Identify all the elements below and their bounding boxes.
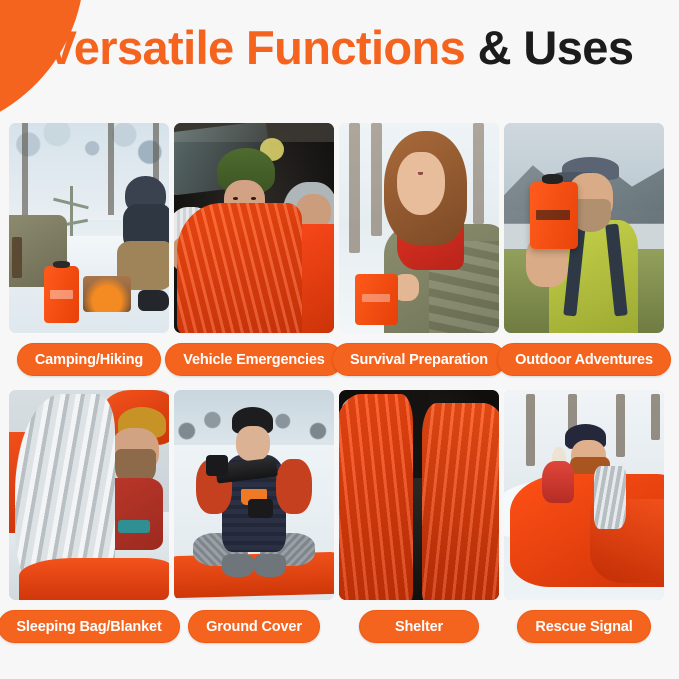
- use-case-cell-rescue-signal[interactable]: Rescue Signal: [504, 390, 664, 643]
- use-case-row: Camping/Hiking Vehicle Emergen: [9, 123, 670, 376]
- use-case-label-camping-hiking[interactable]: Camping/Hiking: [17, 343, 161, 376]
- page-title-accent: Versatile Functions: [46, 21, 466, 74]
- header: Versatile Functions & Uses: [0, 22, 679, 75]
- car-interior-emergency-blanket-photo: [174, 123, 334, 333]
- use-case-cell-shelter[interactable]: Shelter: [339, 390, 499, 643]
- use-case-label-sleeping-bag-blanket[interactable]: Sleeping Bag/Blanket: [0, 610, 180, 643]
- two-people-bivvy-shelter-photo: [339, 390, 499, 600]
- use-case-label-outdoor-adventures[interactable]: Outdoor Adventures: [497, 343, 671, 376]
- smiling-woman-holding-pouch-photo: [339, 123, 499, 333]
- use-case-label-rescue-signal[interactable]: Rescue Signal: [517, 610, 650, 643]
- use-case-cell-outdoor-adventures[interactable]: Outdoor Adventures: [504, 123, 664, 376]
- ground-cover-thermos-photo: [174, 390, 334, 600]
- use-case-label-vehicle-emergencies[interactable]: Vehicle Emergencies: [165, 343, 342, 376]
- use-case-cell-sleeping-bag-blanket[interactable]: Sleeping Bag/Blanket: [9, 390, 169, 643]
- use-case-grid: Camping/Hiking Vehicle Emergen: [9, 123, 670, 643]
- mylar-sleeping-bag-photo: [9, 390, 169, 600]
- use-case-row: Sleeping Bag/Blanket: [9, 390, 670, 643]
- use-case-label-survival-preparation[interactable]: Survival Preparation: [332, 343, 506, 376]
- hiker-holding-pouch-photo: [504, 123, 664, 333]
- use-case-cell-ground-cover[interactable]: Ground Cover: [174, 390, 334, 643]
- use-case-cell-camping-hiking[interactable]: Camping/Hiking: [9, 123, 169, 376]
- page-title: Versatile Functions & Uses: [0, 22, 679, 75]
- use-case-cell-vehicle-emergencies[interactable]: Vehicle Emergencies: [174, 123, 334, 376]
- use-case-cell-survival-preparation[interactable]: Survival Preparation: [339, 123, 499, 376]
- page-title-plain: & Uses: [465, 21, 633, 74]
- use-case-label-ground-cover[interactable]: Ground Cover: [188, 610, 320, 643]
- snowy-forest-campfire-photo: [9, 123, 169, 333]
- use-case-label-shelter[interactable]: Shelter: [359, 610, 479, 643]
- thumbs-up-rescue-bivvy-photo: [504, 390, 664, 600]
